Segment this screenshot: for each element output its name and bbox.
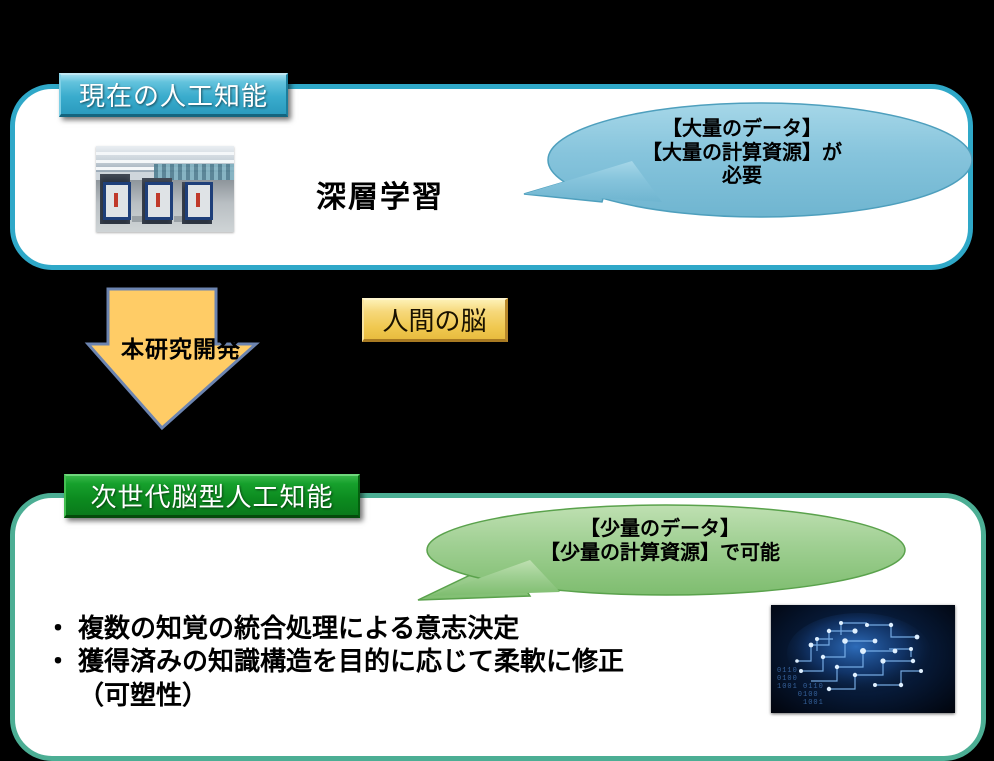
deep-learning-label: 深層学習 [316, 172, 444, 216]
research-arrow: 本研究開発 [86, 288, 276, 430]
blue-bubble-text: 【大量のデータ】 【大量の計算資源】が 必要 [512, 118, 972, 189]
list-item: ・ 複数の知覚の統合処理による意志決定 [38, 612, 758, 645]
list-item-label: 複数の知覚の統合処理による意志決定 [78, 612, 519, 645]
large-data-speech-bubble: 【大量のデータ】 【大量の計算資源】が 必要 [512, 98, 972, 238]
blue-bubble-line-1: 【大量のデータ】 [512, 118, 972, 142]
bullet-marker-icon: ・ [38, 645, 78, 678]
green-bubble-line-2: 【少量の計算資源】で可能 [410, 542, 910, 566]
current-ai-banner: 現在の人工知能 [59, 73, 288, 117]
green-bubble-text: 【少量のデータ】 【少量の計算資源】で可能 [410, 518, 910, 565]
list-item: ・ 獲得済みの知識構造を目的に応じて柔軟に修正 [38, 645, 758, 678]
slide-canvas: 現在の人工知能 深層学習 [0, 0, 994, 755]
green-bubble-line-1: 【少量のデータ】 [410, 518, 910, 542]
next-gen-ai-banner: 次世代脳型人工知能 [64, 474, 360, 518]
human-brain-label: 人間の脳 [362, 298, 508, 342]
digital-brain-image: 0110 0100 1001 0110 0100 1001 [771, 605, 955, 713]
binary-digits-overlay: 0110 0100 1001 0110 0100 1001 [777, 667, 824, 707]
blue-bubble-line-3: 必要 [512, 165, 972, 189]
research-arrow-label: 本研究開発 [86, 330, 276, 364]
list-item-label: 獲得済みの知識構造を目的に応じて柔軟に修正 [78, 645, 624, 678]
blue-bubble-line-2: 【大量の計算資源】が [512, 142, 972, 166]
small-data-speech-bubble: 【少量のデータ】 【少量の計算資源】で可能 [410, 500, 910, 610]
bullet-marker-icon: ・ [38, 612, 78, 645]
supercomputer-photo [96, 146, 234, 232]
capability-bullet-list: ・ 複数の知覚の統合処理による意志決定 ・ 獲得済みの知識構造を目的に応じて柔軟… [38, 612, 758, 712]
list-item-continuation: （可塑性） [78, 679, 758, 712]
